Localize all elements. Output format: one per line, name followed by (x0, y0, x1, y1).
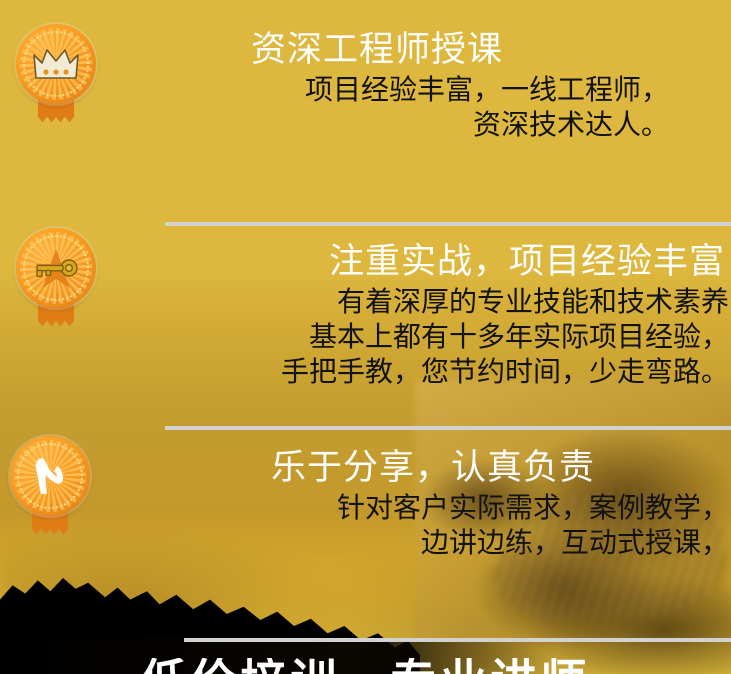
body-line: 针对客户实际需求，案例教学， (0, 490, 729, 525)
key-badge-icon (16, 228, 96, 308)
body-line: 边讲边练，互动式授课， (0, 525, 729, 560)
feature-heading-3: 乐于分享，认真负责 (0, 446, 731, 490)
section-divider (165, 222, 731, 226)
feature-heading-2: 注重实战，项目经验丰富 (0, 240, 731, 284)
feature-heading-1: 资深工程师授课 (0, 28, 731, 72)
body-line: 项目经验丰富，一线工程师， (0, 72, 669, 107)
bottom-headline: 低价培训、专业讲师 (0, 658, 731, 674)
feature-section-3: 乐于分享，认真负责 针对客户实际需求，案例教学， 边讲边练，互动式授课， (0, 430, 731, 610)
body-line: 资深技术达人。 (0, 107, 669, 142)
body-line: 有着深厚的专业技能和技术素养 (0, 284, 729, 319)
crown-icon (16, 24, 96, 104)
section-divider (184, 638, 731, 642)
body-line: 基本上都有十多年实际项目经验， (0, 319, 729, 354)
crown-badge-icon (16, 24, 96, 104)
feature-section-2: 注重实战，项目经验丰富 有着深厚的专业技能和技术素养 基本上都有十多年实际项目经… (0, 222, 731, 412)
promo-poster: 资深工程师授课 项目经验丰富，一线工程师， 资深技术达人。 (0, 0, 731, 674)
feature-text-2: 注重实战，项目经验丰富 有着深厚的专业技能和技术素养 基本上都有十多年实际项目经… (0, 240, 731, 389)
section-divider (165, 426, 731, 430)
key-icon (16, 228, 96, 308)
thumbs-up-icon (10, 436, 90, 516)
feature-body-1: 项目经验丰富，一线工程师， 资深技术达人。 (0, 72, 731, 142)
feature-section-1: 资深工程师授课 项目经验丰富，一线工程师， 资深技术达人。 (0, 18, 731, 183)
body-line: 手把手教，您节约时间，少走弯路。 (0, 354, 729, 389)
feature-body-2: 有着深厚的专业技能和技术素养 基本上都有十多年实际项目经验， 手把手教，您节约时… (0, 284, 731, 389)
feature-text-3: 乐于分享，认真负责 针对客户实际需求，案例教学， 边讲边练，互动式授课， (0, 446, 731, 560)
thumbs-up-badge-icon (10, 436, 90, 516)
feature-text-1: 资深工程师授课 项目经验丰富，一线工程师， 资深技术达人。 (0, 28, 731, 142)
feature-body-3: 针对客户实际需求，案例教学， 边讲边练，互动式授课， (0, 490, 731, 560)
